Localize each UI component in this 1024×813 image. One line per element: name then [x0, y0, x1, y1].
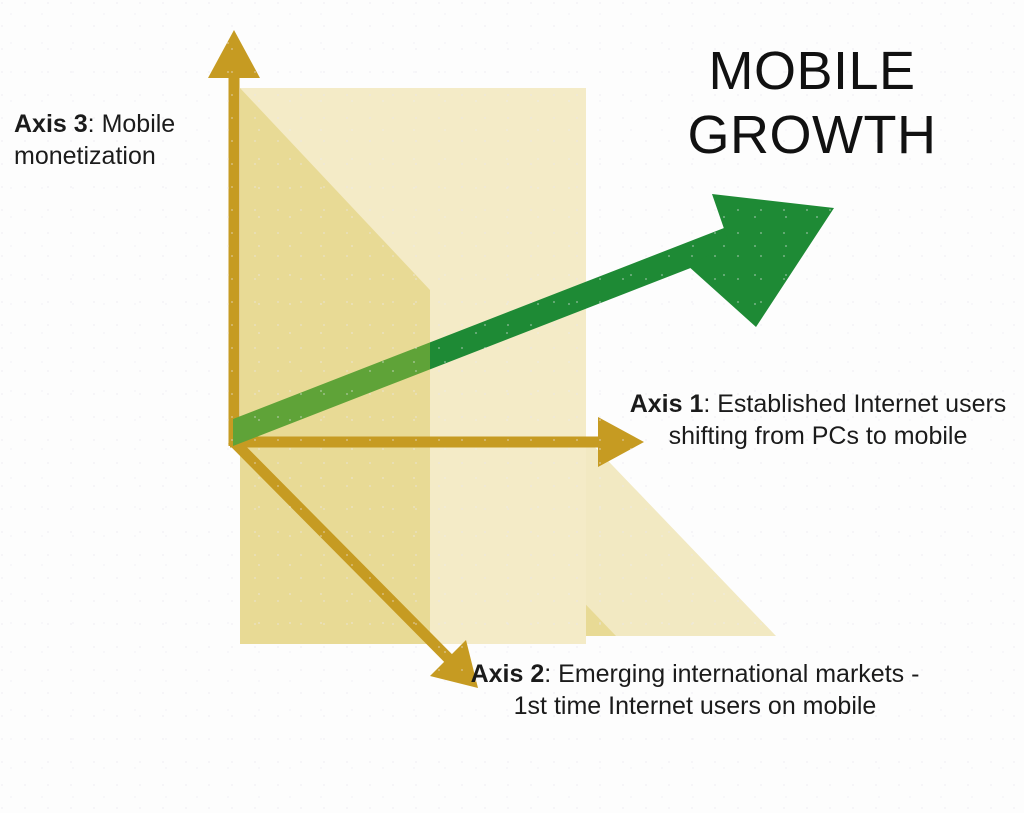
axis-2-label-prefix: Axis 2 [471, 660, 545, 688]
growth-arrow-head [687, 194, 834, 327]
diagram-canvas: MOBILE GROWTH Axis 3: Mobile monetizatio… [0, 0, 1024, 813]
axis-2-label-text: : Emerging international markets - 1st t… [514, 660, 920, 720]
axis-3-label-prefix: Axis 3 [14, 110, 88, 138]
axis-1-label-prefix: Axis 1 [630, 390, 704, 418]
axis-1-label: Axis 1: Established Internet users shift… [618, 388, 1018, 452]
page-title: MOBILE GROWTH [612, 40, 1012, 167]
axis-2-label: Axis 2: Emerging international markets -… [470, 658, 920, 722]
axis-1-label-text: : Established Internet users shifting fr… [669, 390, 1007, 450]
axis-3-label: Axis 3: Mobile monetization [14, 108, 239, 172]
axis-3-arrowhead [208, 30, 260, 78]
